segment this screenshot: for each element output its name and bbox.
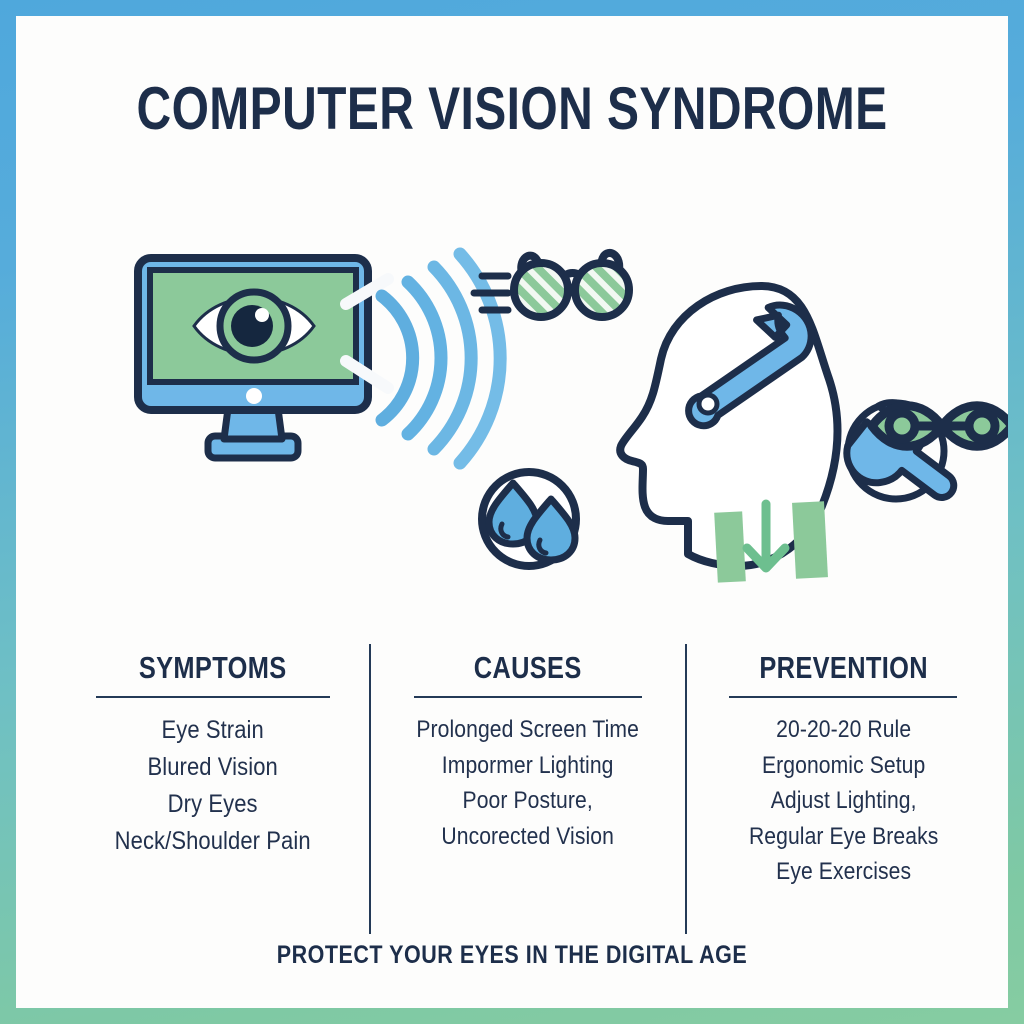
- page-title: COMPUTER VISION SYNDROME: [115, 74, 909, 143]
- heading-rule: [96, 696, 330, 698]
- poster-canvas: COMPUTER VISION SYNDROME: [16, 16, 1008, 1008]
- list-item: Neck/Shoulder Pain: [87, 823, 338, 860]
- illustration-area: [16, 196, 1008, 616]
- list-item: Blured Vision: [87, 749, 338, 786]
- causes-list: Prolonged Screen Time Impormer Lighting …: [385, 712, 670, 854]
- prevention-list: 20-20-20 Rule Ergonomic Setup Adjust Lig…: [701, 712, 986, 890]
- column-prevention: PREVENTION 20-20-20 Rule Ergonomic Setup…: [685, 644, 1000, 934]
- list-item: Dry Eyes: [87, 786, 338, 823]
- column-causes: CAUSES Prolonged Screen Time Impormer Li…: [369, 644, 684, 934]
- list-item: Adjust Lighting,: [718, 783, 969, 819]
- heading-rule: [414, 696, 642, 698]
- symptoms-list: Eye Strain Blured Vision Dry Eyes Neck/S…: [70, 712, 355, 860]
- list-item: Poor Posture,: [402, 783, 653, 819]
- heading-rule: [729, 696, 957, 698]
- list-item: Regular Eye Breaks: [718, 819, 969, 855]
- column-heading-symptoms: SYMPTOMS: [96, 650, 330, 686]
- water-drops-icon: [482, 472, 576, 566]
- list-item: Uncorected Vision: [402, 819, 653, 855]
- list-item: 20-20-20 Rule: [718, 712, 969, 748]
- column-heading-causes: CAUSES: [411, 650, 645, 686]
- column-symptoms: SYMPTOMS Eye Strain Blured Vision Dry Ey…: [56, 644, 369, 934]
- list-item: Ergonomic Setup: [718, 748, 969, 784]
- infographic-poster: COMPUTER VISION SYNDROME: [0, 0, 1024, 1024]
- column-heading-prevention: PREVENTION: [726, 650, 960, 686]
- eyeglasses-icon: [514, 253, 629, 317]
- signal-waves-icon: [382, 254, 500, 463]
- list-item: Prolonged Screen Time: [402, 712, 653, 748]
- list-item: Eye Exercises: [718, 854, 969, 890]
- monitor-with-eye-icon: [138, 258, 368, 458]
- list-item: Impormer Lighting: [402, 748, 653, 784]
- list-item: Eye Strain: [87, 712, 338, 749]
- three-column-section: SYMPTOMS Eye Strain Blured Vision Dry Ey…: [56, 644, 1000, 934]
- footer-tagline: PROTECT YOUR EYES IN THE DIGITAL AGE: [85, 941, 938, 970]
